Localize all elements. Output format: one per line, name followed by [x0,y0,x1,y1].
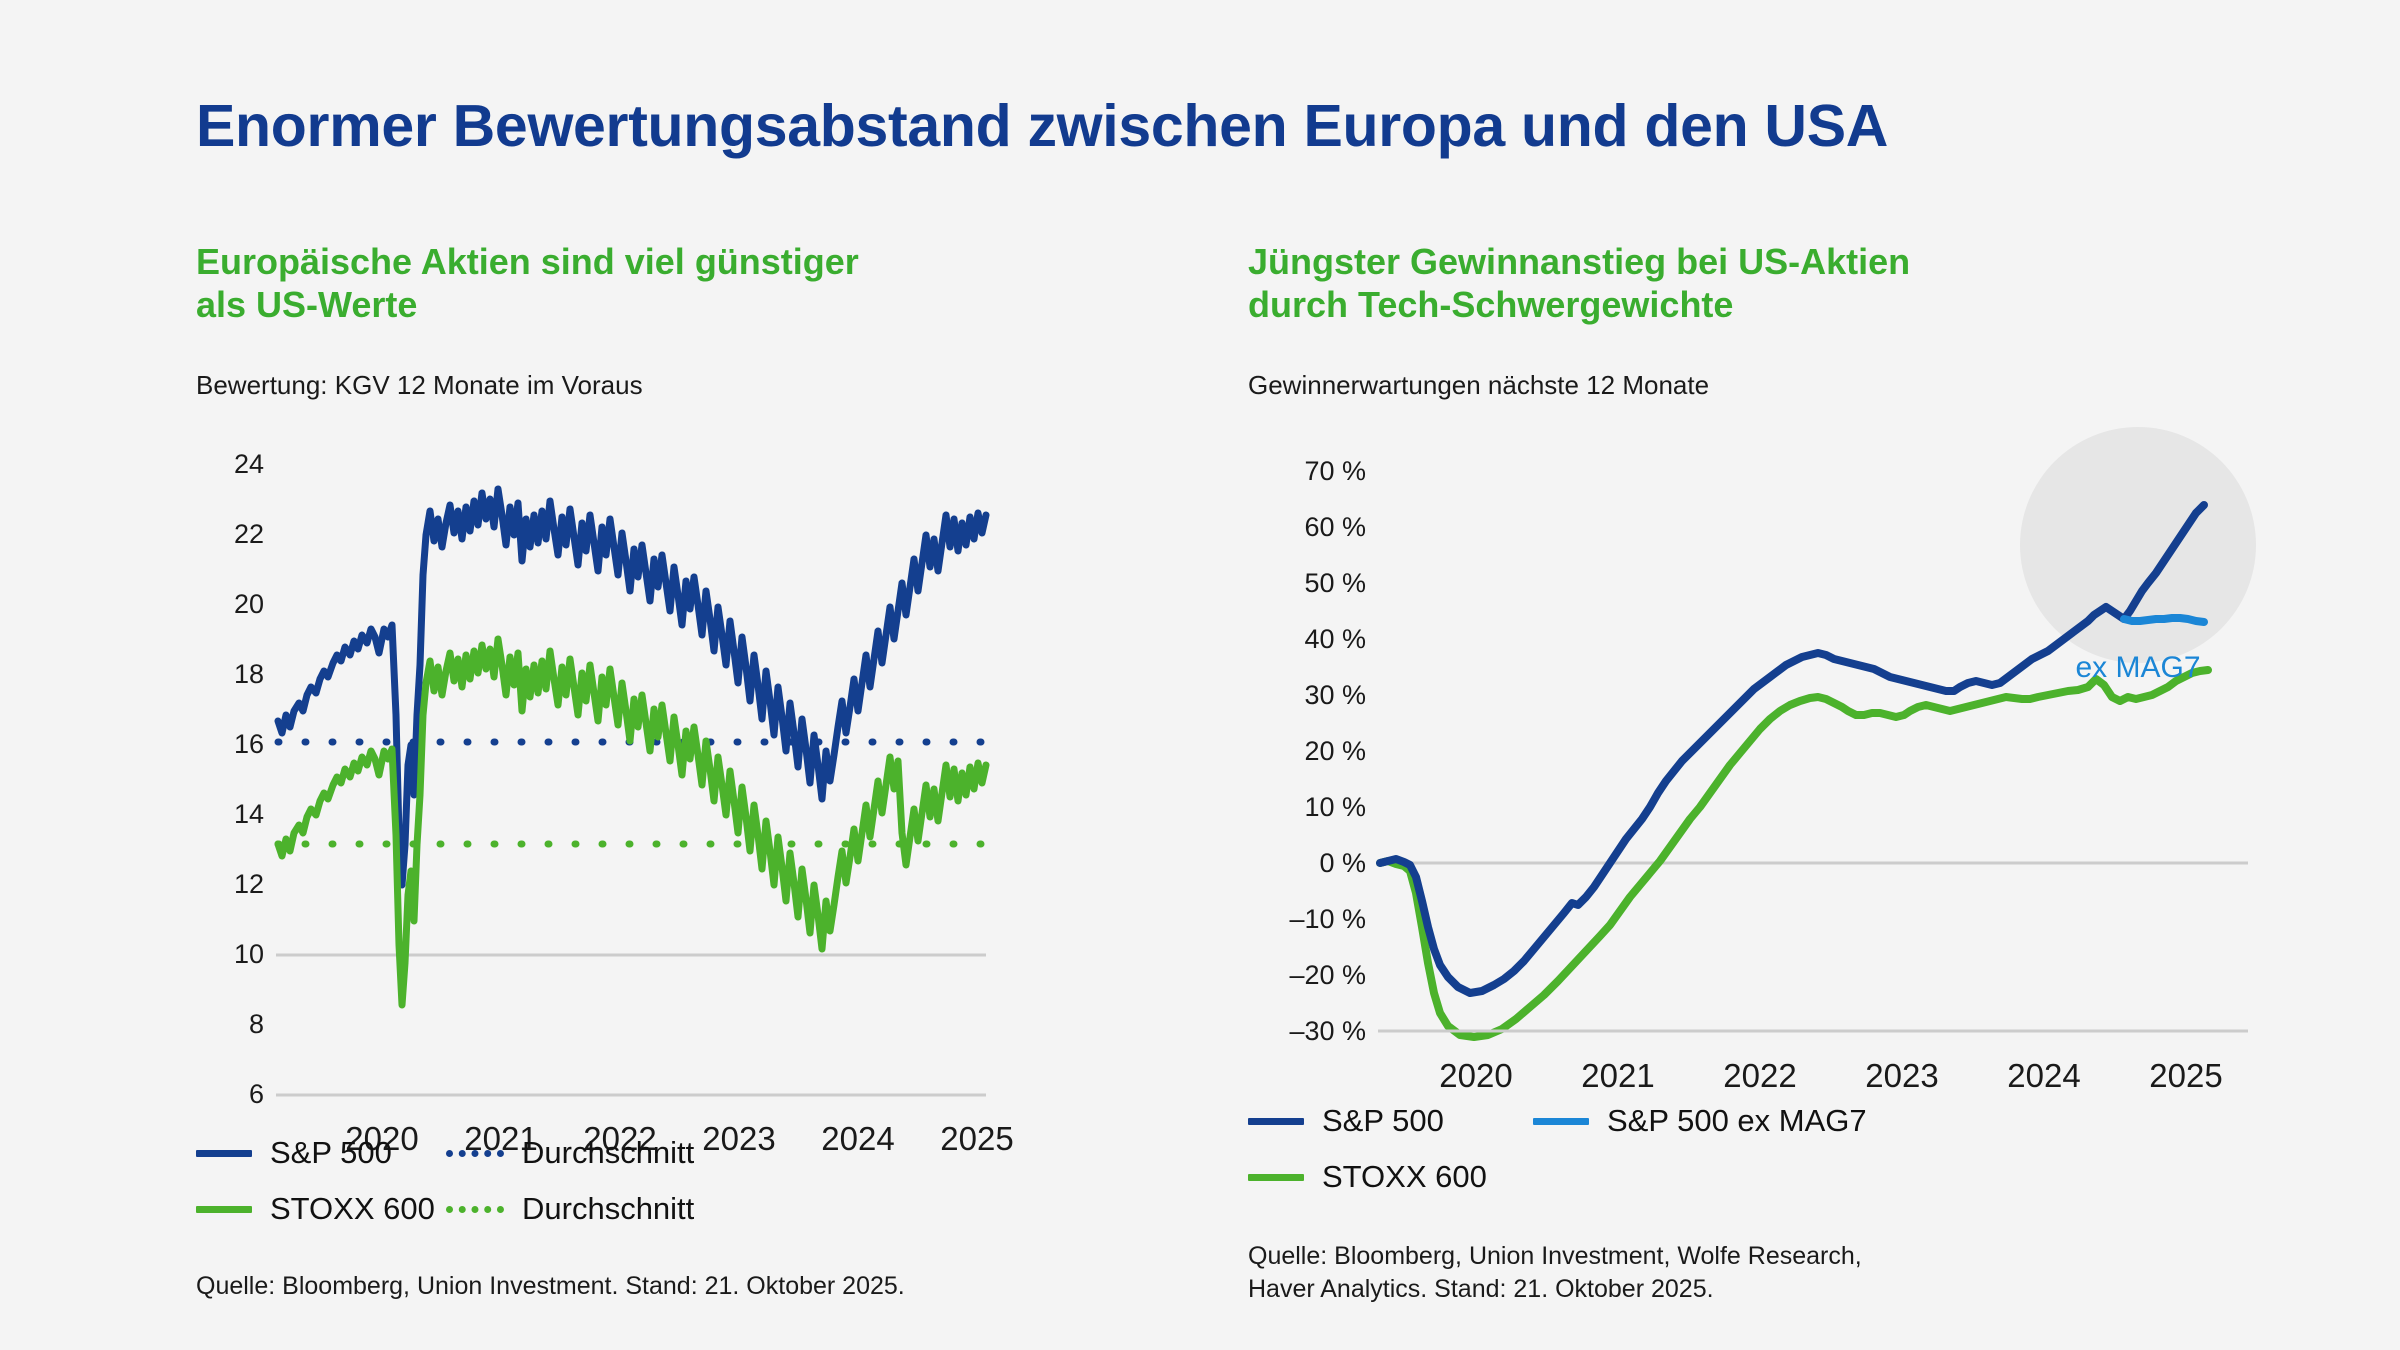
legend-swatch-sp500-ex-mag7 [1533,1118,1589,1125]
svg-text:14: 14 [234,799,264,829]
svg-text:2023: 2023 [702,1120,775,1157]
legend-swatch-stoxx600-right [1248,1174,1304,1181]
legend-swatch-stoxx600 [196,1206,252,1213]
gridlines [276,955,986,1095]
highlight-circle [2020,427,2256,663]
svg-text:–10 %: –10 % [1289,904,1366,934]
svg-text:24: 24 [234,449,264,479]
legend-item-sp500-right[interactable]: S&P 500 [1248,1103,1533,1139]
svg-text:12: 12 [234,869,264,899]
legend-label-stoxx600: STOXX 600 [270,1191,435,1227]
svg-text:2024: 2024 [821,1120,894,1157]
source-valuation: Quelle: Bloomberg, Union Investment. Sta… [196,1270,905,1303]
svg-text:2022: 2022 [1723,1057,1796,1094]
series-line-sp500-ex-mag7 [2124,618,2204,622]
svg-text:40 %: 40 % [1304,624,1366,654]
svg-text:10: 10 [234,939,264,969]
legend-swatch-sp500-right [1248,1118,1304,1125]
source-earnings: Quelle: Bloomberg, Union Investment, Wol… [1248,1240,1862,1305]
svg-text:2020: 2020 [1439,1057,1512,1094]
earnings-chart: 70 % 60 % 50 % 40 % 30 % 20 % 10 % 0 % –… [1248,415,2258,1205]
panel-heading-earnings: Jüngster Gewinnanstieg bei US-Aktien dur… [1248,240,2258,326]
series-line-stoxx600 [278,639,986,1005]
svg-text:50 %: 50 % [1304,568,1366,598]
legend-swatch-sp500 [196,1150,252,1157]
svg-text:2021: 2021 [1581,1057,1654,1094]
svg-text:20: 20 [234,589,264,619]
legend-earnings: S&P 500 S&P 500 ex MAG7 STOXX 600 [1248,1103,1867,1215]
svg-text:60 %: 60 % [1304,512,1366,542]
svg-text:2024: 2024 [2007,1057,2080,1094]
annotation-ex-mag7: ex MAG7 [2075,651,2200,684]
svg-text:–20 %: –20 % [1289,960,1366,990]
legend-item-stoxx600[interactable]: STOXX 600 [196,1191,446,1227]
panel-earnings: Jüngster Gewinnanstieg bei US-Aktien dur… [1248,240,2258,1205]
svg-text:8: 8 [249,1009,264,1039]
legend-item-average-sp500[interactable]: Durchschnitt [446,1135,694,1171]
legend-item-stoxx600-right[interactable]: STOXX 600 [1248,1159,1533,1195]
legend-swatch-average-stoxx600 [446,1206,504,1213]
valuation-chart: 24 22 20 18 16 14 12 10 8 6 [196,415,1196,1215]
svg-text:30 %: 30 % [1304,680,1366,710]
svg-text:10 %: 10 % [1304,792,1366,822]
page-title: Enormer Bewertungsabstand zwischen Europ… [196,92,1888,160]
y-axis-labels: 24 22 20 18 16 14 12 10 8 6 [234,449,264,1109]
legend-label-average-sp500: Durchschnitt [522,1135,694,1171]
legend-label-average-stoxx600: Durchschnitt [522,1191,694,1227]
legend-label-sp500-ex-mag7: S&P 500 ex MAG7 [1607,1103,1867,1139]
legend-label-sp500-right: S&P 500 [1322,1103,1444,1139]
svg-text:70 %: 70 % [1304,456,1366,486]
legend-item-sp500[interactable]: S&P 500 [196,1135,446,1171]
svg-text:6: 6 [249,1079,264,1109]
panel-subtitle-valuation: Bewertung: KGV 12 Monate im Voraus [196,370,1196,401]
legend-item-sp500-ex-mag7[interactable]: S&P 500 ex MAG7 [1533,1103,1867,1139]
legend-label-stoxx600-right: STOXX 600 [1322,1159,1487,1195]
legend-label-sp500: S&P 500 [270,1135,392,1171]
svg-text:20 %: 20 % [1304,736,1366,766]
svg-text:22: 22 [234,519,264,549]
svg-text:16: 16 [234,729,264,759]
series-line-sp500 [278,489,986,885]
panel-heading-valuation: Europäische Aktien sind viel günstiger a… [196,240,1196,326]
svg-text:0 %: 0 % [1319,848,1366,878]
panel-valuation: Europäische Aktien sind viel günstiger a… [196,240,1196,1215]
svg-text:2025: 2025 [940,1120,1013,1157]
panel-subtitle-earnings: Gewinnerwartungen nächste 12 Monate [1248,370,2258,401]
legend-valuation: S&P 500 Durchschnitt STOXX 600 Durchschn… [196,1135,694,1247]
legend-item-average-stoxx600[interactable]: Durchschnitt [446,1191,694,1227]
svg-text:18: 18 [234,659,264,689]
svg-text:–30 %: –30 % [1289,1016,1366,1046]
earnings-chart-svg: 70 % 60 % 50 % 40 % 30 % 20 % 10 % 0 % –… [1248,415,2258,1205]
legend-swatch-average-sp500 [446,1150,504,1157]
valuation-chart-svg: 24 22 20 18 16 14 12 10 8 6 [196,415,1196,1215]
y-axis-labels: 70 % 60 % 50 % 40 % 30 % 20 % 10 % 0 % –… [1289,456,1366,1046]
svg-text:2025: 2025 [2149,1057,2222,1094]
x-axis-labels: 2020 2021 2022 2023 2024 2025 [1439,1057,2222,1094]
gridlines [1378,863,2248,1031]
svg-text:2023: 2023 [1865,1057,1938,1094]
